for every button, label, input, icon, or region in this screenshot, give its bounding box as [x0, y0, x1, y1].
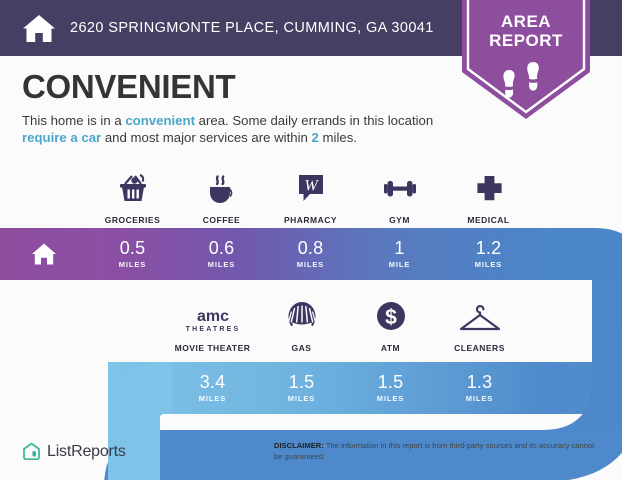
desc-highlight-convenient: convenient	[125, 113, 195, 128]
category-label: MOVIE THEATER	[175, 343, 251, 353]
distance-value: 0.6	[209, 239, 235, 258]
coffee-cup-icon	[203, 168, 241, 208]
distance-unit: MILES	[475, 260, 502, 269]
category-label: COFFEE	[203, 215, 240, 225]
listreports-logo-icon	[22, 442, 41, 461]
distance-unit: MILES	[199, 394, 226, 403]
distance-value: 3.4	[200, 373, 226, 392]
distance-value: 1.5	[378, 373, 404, 392]
distance-unit: MILES	[377, 394, 404, 403]
category-icon-row-2: amc THEATRES MOVIE THEATER	[168, 296, 622, 353]
row2-leading-spacer	[108, 362, 168, 414]
distance-cell-atm: 1.5 MILES	[346, 362, 435, 414]
distance-cell-gym: 1 MILE	[355, 228, 444, 280]
dumbbell-icon	[380, 168, 420, 208]
category-label: PHARMACY	[284, 215, 337, 225]
area-report-badge: AREA REPORT	[462, 0, 590, 120]
category-movie-theater: amc THEATRES MOVIE THEATER	[168, 296, 257, 353]
property-address: 2620 SPRINGMONTE PLACE, CUMMING, GA 3004…	[70, 20, 434, 36]
category-pharmacy: W PHARMACY	[266, 168, 355, 225]
category-label: GAS	[292, 343, 312, 353]
category-label: MEDICAL	[467, 215, 509, 225]
distance-cell-cleaners: 1.3 MILES	[435, 362, 524, 414]
dollar-circle-icon: $	[372, 296, 410, 336]
distance-value: 1.2	[476, 239, 502, 258]
category-label: GROCERIES	[105, 215, 161, 225]
listreports-logo: ListReports	[22, 442, 126, 461]
distance-cell-gas: 1.5 MILES	[257, 362, 346, 414]
category-gas: GAS	[257, 296, 346, 353]
distance-unit: MILES	[119, 260, 146, 269]
amc-theatres-icon: amc THEATRES	[176, 296, 250, 336]
distance-value: 1	[394, 239, 404, 258]
desc-highlight-miles: 2	[312, 130, 319, 145]
distance-unit: MILES	[208, 260, 235, 269]
desc-part-2: area. Some daily errands in this locatio…	[195, 113, 433, 128]
distance-values-row-2: 3.4 MILES 1.5 MILES 1.5 MILES 1.3 MILES	[108, 362, 524, 414]
distance-unit: MILES	[288, 394, 315, 403]
svg-text:$: $	[385, 306, 397, 329]
category-label: ATM	[381, 343, 400, 353]
home-icon	[22, 13, 56, 43]
distance-value: 0.8	[298, 239, 324, 258]
svg-text:W: W	[304, 178, 319, 195]
svg-text:amc: amc	[196, 308, 228, 325]
category-gym: GYM	[355, 168, 444, 225]
distance-cell-coffee: 0.6 MILES	[177, 228, 266, 280]
category-icon-row-1: GROCERIES COFFEE W	[88, 168, 622, 225]
clothes-hanger-icon	[457, 296, 503, 336]
medical-cross-icon	[470, 168, 508, 208]
distance-unit: MILES	[466, 394, 493, 403]
distance-cell-movie-theater: 3.4 MILES	[168, 362, 257, 414]
distance-values-row-1: 0.5 MILES 0.6 MILES 0.8 MILES 1 MILE 1.2…	[0, 228, 533, 280]
category-label: CLEANERS	[454, 343, 505, 353]
svg-text:THEATRES: THEATRES	[185, 326, 240, 333]
disclaimer: DISCLAIMER: The information in this repo…	[274, 441, 604, 462]
distance-cell-medical: 1.2 MILES	[444, 228, 533, 280]
category-medical: MEDICAL	[444, 168, 533, 225]
category-label: GYM	[389, 215, 410, 225]
walgreens-w-icon: W	[292, 168, 330, 208]
desc-highlight-require-a-car: require a car	[22, 130, 101, 145]
distance-unit: MILE	[389, 260, 411, 269]
desc-part-3: and most major services are within	[101, 130, 311, 145]
home-marker-cell	[0, 228, 88, 280]
listreports-logo-text: ListReports	[47, 443, 126, 461]
home-icon	[31, 242, 57, 266]
distance-value: 1.3	[467, 373, 493, 392]
area-report-page: 2620 SPRINGMONTE PLACE, CUMMING, GA 3004…	[0, 0, 622, 480]
shell-gas-icon	[283, 296, 321, 336]
distance-value: 1.5	[289, 373, 315, 392]
distance-unit: MILES	[297, 260, 324, 269]
desc-part-4: miles.	[319, 130, 357, 145]
category-groceries: GROCERIES	[88, 168, 177, 225]
category-atm: $ ATM	[346, 296, 435, 353]
category-coffee: COFFEE	[177, 168, 266, 225]
distance-value: 0.5	[120, 239, 146, 258]
desc-part-1: This home is in a	[22, 113, 125, 128]
grocery-basket-icon	[114, 168, 152, 208]
disclaimer-label: DISCLAIMER:	[274, 441, 324, 450]
page-description: This home is in a convenient area. Some …	[22, 112, 452, 146]
page-title: CONVENIENT	[22, 68, 235, 106]
distance-cell-groceries: 0.5 MILES	[88, 228, 177, 280]
category-cleaners: CLEANERS	[435, 296, 524, 353]
distance-cell-pharmacy: 0.8 MILES	[266, 228, 355, 280]
